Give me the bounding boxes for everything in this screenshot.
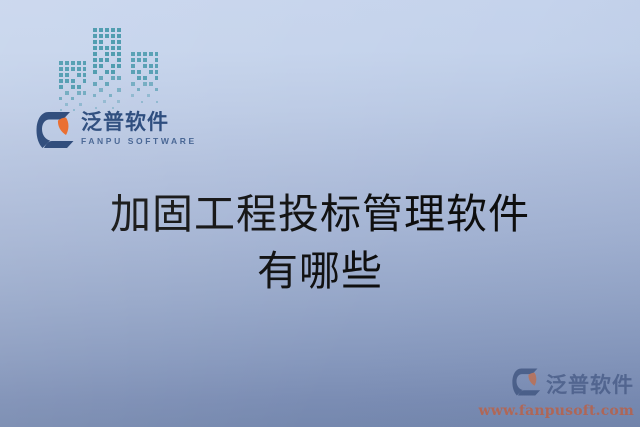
watermark: 泛普软件 www.fanpusoft.com — [478, 367, 634, 419]
banner-canvas: 泛普软件 FANPU SOFTWARE 加固工程投标管理软件 有哪些 泛普软件 … — [0, 0, 640, 427]
fanpu-logo-icon — [512, 367, 542, 402]
watermark-logo-row: 泛普软件 — [512, 367, 634, 402]
headline-line-1: 加固工程投标管理软件 — [0, 186, 640, 243]
fanpu-logo-icon — [36, 110, 76, 155]
brand-name-cn: 泛普软件 — [81, 110, 197, 134]
watermark-name-cn: 泛普软件 — [546, 373, 634, 397]
brand-text: 泛普软件 FANPU SOFTWARE — [81, 110, 197, 147]
pixel-skyline-graphic — [57, 26, 177, 114]
watermark-url: www.fanpusoft.com — [478, 403, 634, 419]
headline-line-2: 有哪些 — [0, 243, 640, 300]
brand-logo: 泛普软件 FANPU SOFTWARE — [36, 110, 197, 155]
page-title: 加固工程投标管理软件 有哪些 — [0, 186, 640, 300]
brand-name-en: FANPU SOFTWARE — [81, 136, 197, 147]
